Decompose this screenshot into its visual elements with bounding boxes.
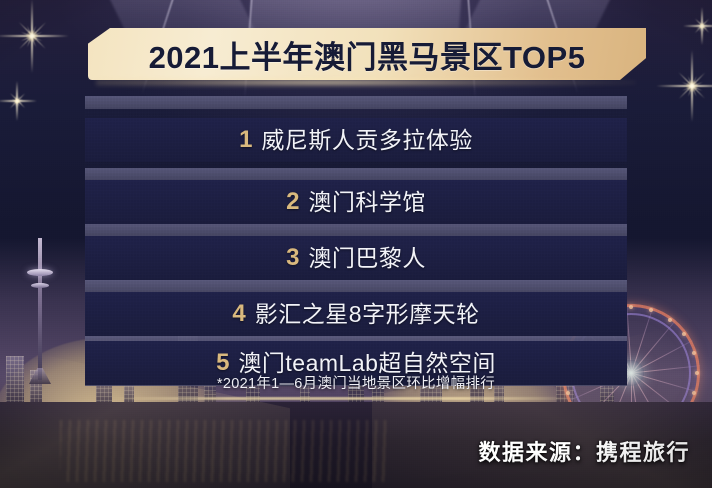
attraction-name: 影汇之星8字形摩天轮 [255,303,480,326]
ranking-row[interactable]: 3 澳门巴黎人 [85,236,627,280]
ranking-row[interactable]: 1 威尼斯人贡多拉体验 [85,118,627,162]
attraction-name: 澳门巴黎人 [308,247,426,270]
footnote: *2021年1—6月澳门当地景区环比增幅排行 [0,372,712,393]
row-separator [85,96,627,109]
rank-number: 4 [232,302,245,326]
poster-canvas: 2021上半年澳门黑马景区TOP5 1 威尼斯人贡多拉体验 2 澳门科学馆 3 … [0,0,712,488]
data-source-label: 数据来源：携程旅行 [478,435,690,467]
ranking-panel: 1 威尼斯人贡多拉体验 2 澳门科学馆 3 澳门巴黎人 4 影汇之星8字形摩天轮… [85,96,627,386]
rank-number: 2 [286,190,299,214]
ranking-row[interactable]: 2 澳门科学馆 [85,180,627,224]
attraction-name: 澳门科学馆 [308,191,426,214]
rank-number: 3 [286,246,299,270]
page-title: 2021上半年澳门黑马景区TOP5 [88,28,646,80]
attraction-name: 威尼斯人贡多拉体验 [261,129,473,152]
ranking-row[interactable]: 4 影汇之星8字形摩天轮 [85,292,627,336]
rank-number: 1 [239,128,252,152]
